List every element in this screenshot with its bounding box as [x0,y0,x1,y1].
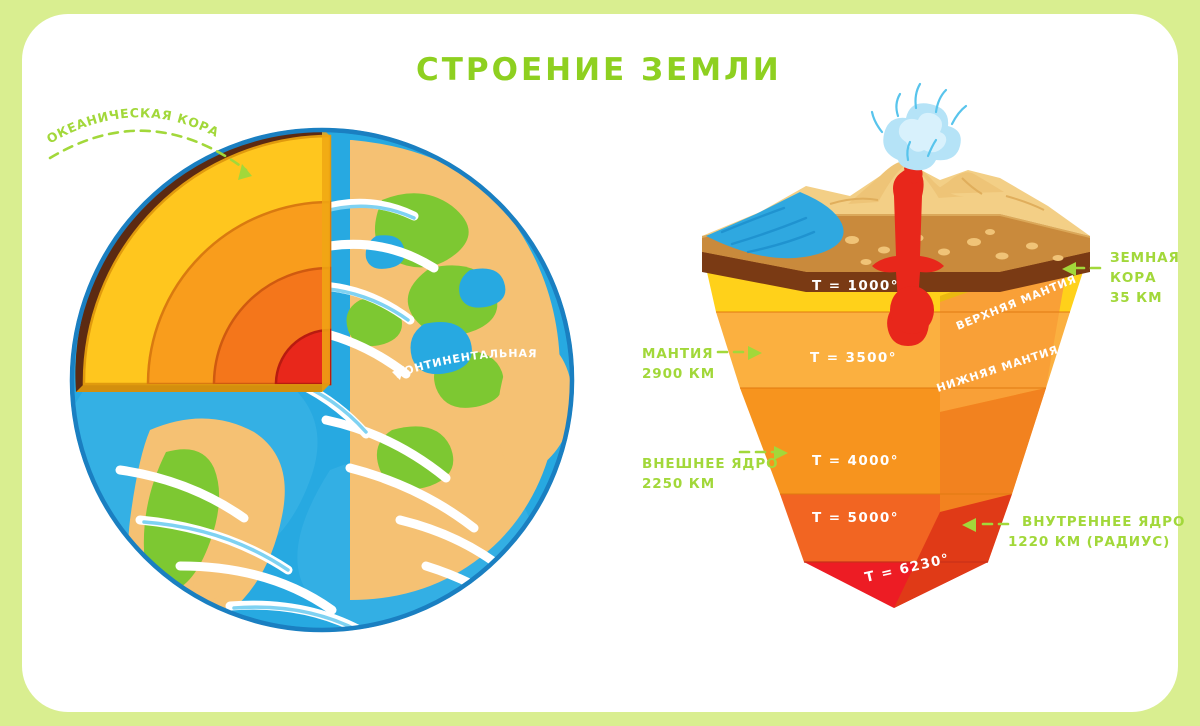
inner-core-label-line1: ВНУТРЕННЕЕ ЯДРО [1022,514,1185,530]
wedge-temp-4000: T = 4000° [812,453,899,469]
globe-cutaway [75,128,330,392]
mantle-label-line1: МАНТИЯ [642,346,713,362]
earth-crust-label-line3: 35 КМ [1110,290,1162,306]
inland-sea-2 [459,269,505,308]
earth-crust-label-line2: КОРА [1110,270,1156,286]
globe-group: ОКЕАНИЧЕСКАЯ КОРА КОНТИНЕНТАЛЬНАЯ КОРА [0,0,572,636]
cutaway-bottom-face [76,384,330,392]
mantle-label-line2: 2900 КМ [642,366,715,382]
outer-core-label-line2: 2250 КМ [642,476,715,492]
cutaway-side-face [322,128,330,392]
wedge-group: T = 1000° T = 3500° T = 4000° T = 5000° … [690,84,1110,612]
earth-crust-label-line1: ЗЕМНАЯ [1110,250,1180,266]
steam-plume [872,84,966,170]
inner-core-label-line2: 1220 КМ (РАДИУС) [1008,534,1170,550]
wedge-temp-3500: T = 3500° [810,350,897,366]
outer-core-label-line1: ВНЕШНЕЕ ЯДРО [642,456,779,472]
earth-structure-diagram: СТРОЕНИЕ ЗЕМЛИ [0,0,1200,726]
poster-background: СТРОЕНИЕ ЗЕМЛИ [0,0,1200,726]
page-title: СТРОЕНИЕ ЗЕМЛИ [416,52,782,88]
wedge-temp-1000: T = 1000° [812,278,899,294]
wedge-temp-5000: T = 5000° [812,510,899,526]
